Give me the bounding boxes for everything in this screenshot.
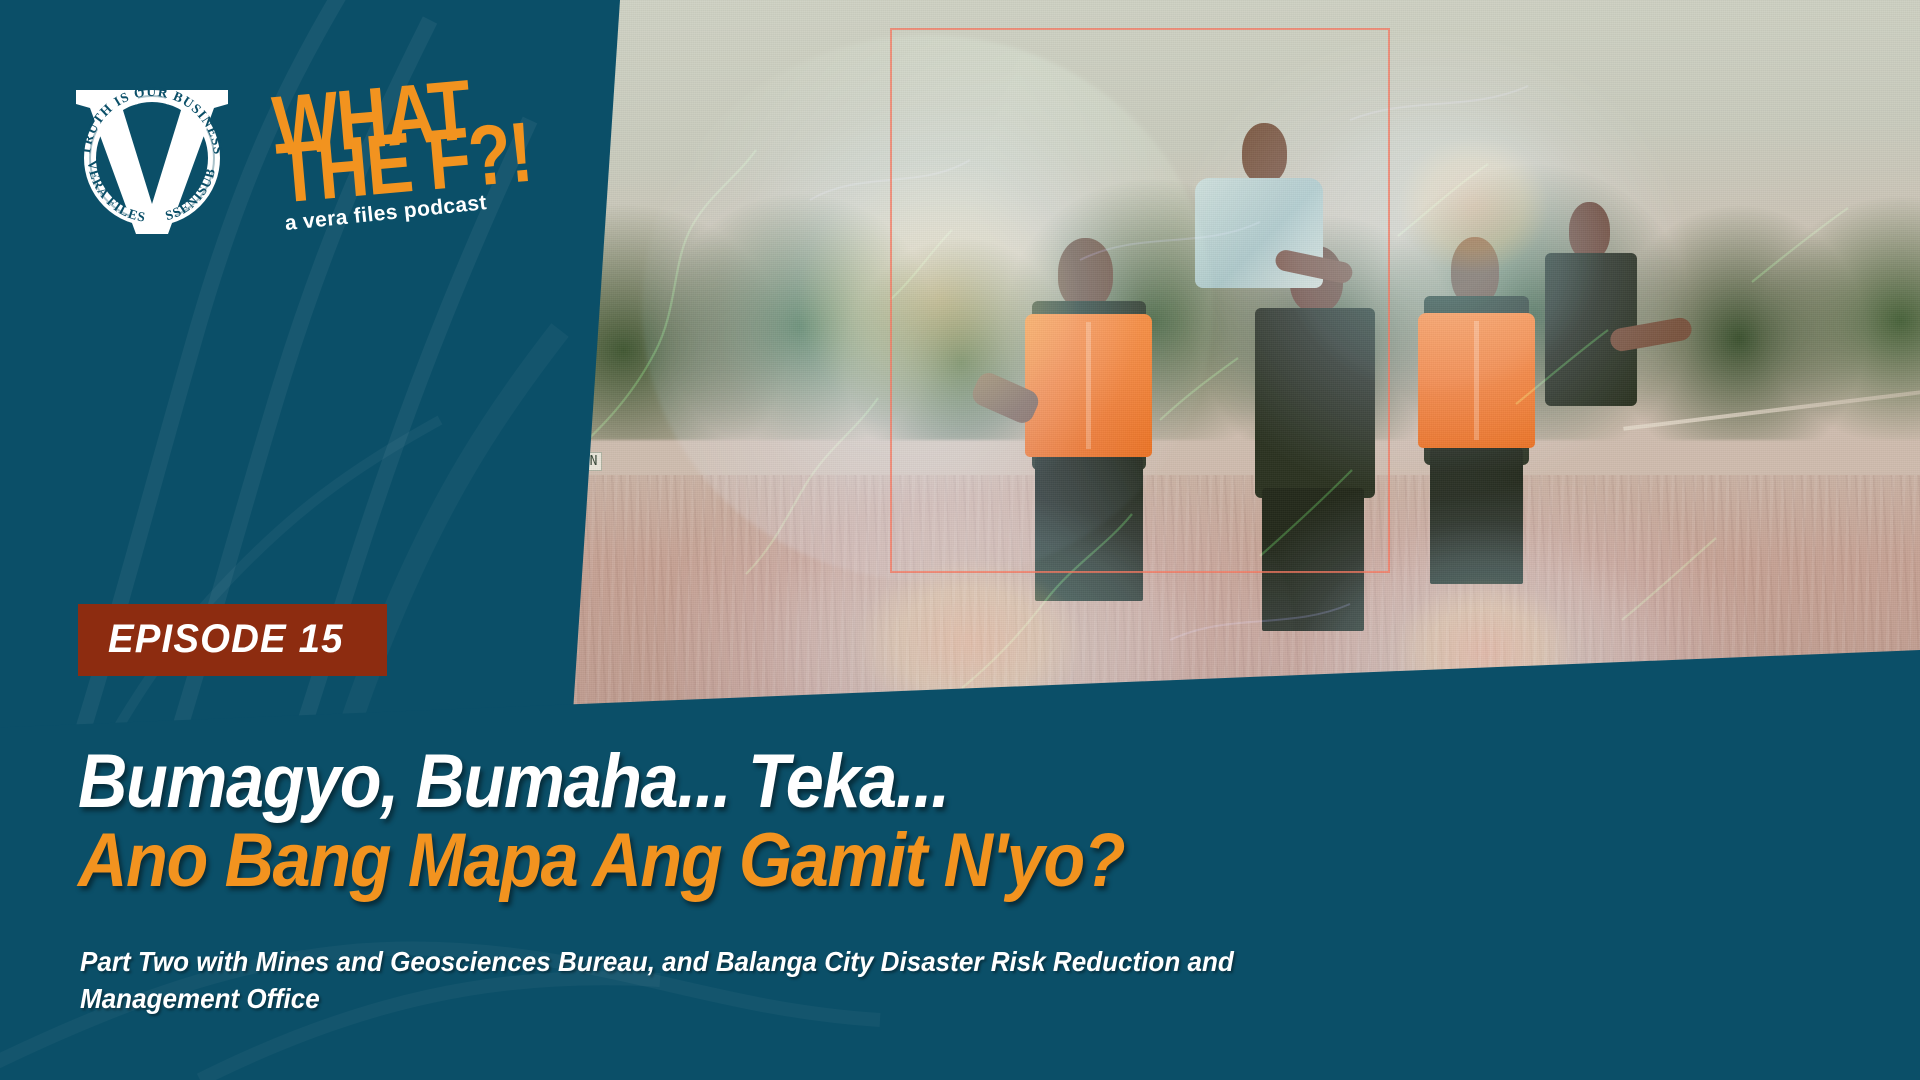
podcast-cover: 20N 10N	[0, 0, 1920, 1080]
episode-badge: EPISODE 15	[78, 604, 387, 676]
vera-files-logo: TRUTH IS OUR BUSINESS VERA FILES SSENISU…	[68, 62, 236, 234]
episode-title-block: Bumagyo, Bumaha... Teka... Ano Bang Mapa…	[78, 746, 1498, 898]
episode-badge-label: EPISODE 15	[108, 619, 344, 659]
episode-title-line-1: Bumagyo, Bumaha... Teka...	[78, 746, 1356, 819]
brand-header: TRUTH IS OUR BUSINESS VERA FILES SSENISU…	[0, 0, 620, 270]
episode-subtitle: Part Two with Mines and Geosciences Bure…	[80, 944, 1289, 1018]
episode-title-line-2: Ano Bang Mapa Ang Gamit N'yo?	[78, 825, 1356, 898]
show-title-lockup: WHAT THE F?! a vera files podcast	[270, 58, 570, 238]
